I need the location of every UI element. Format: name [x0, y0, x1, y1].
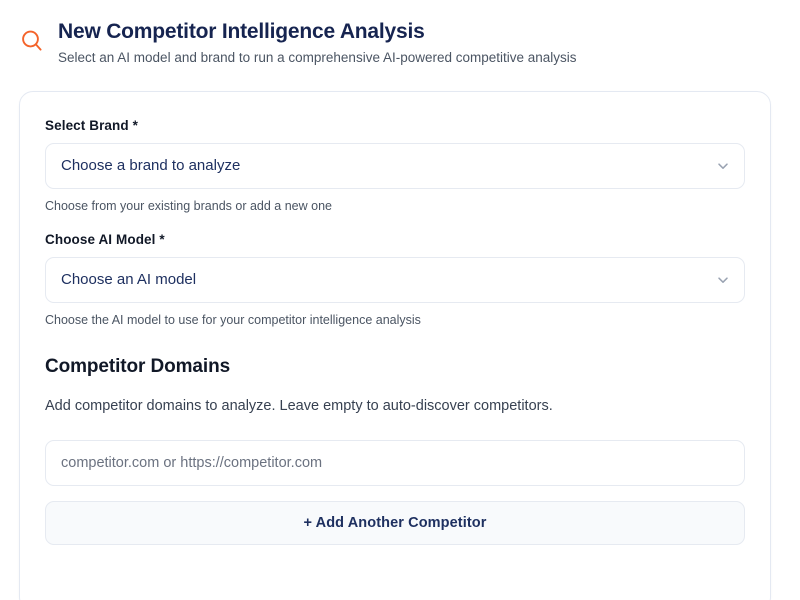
analysis-form-card: Select Brand * Choose a brand to analyze…	[19, 91, 771, 600]
chevron-down-icon	[716, 159, 730, 173]
brand-field-label: Select Brand *	[45, 118, 745, 133]
ai-model-select[interactable]: Choose an AI model	[45, 257, 745, 303]
page-subtitle: Select an AI model and brand to run a co…	[58, 48, 577, 68]
competitor-domains-title: Competitor Domains	[45, 354, 745, 379]
brand-field-help: Choose from your existing brands or add …	[45, 197, 745, 215]
chevron-down-icon	[716, 273, 730, 287]
competitor-domain-input[interactable]	[45, 440, 745, 486]
page-title: New Competitor Intelligence Analysis	[58, 18, 577, 45]
header-text-group: New Competitor Intelligence Analysis Sel…	[58, 18, 577, 68]
model-field-block: Choose AI Model * Choose an AI model Cho…	[45, 232, 745, 329]
search-icon	[18, 27, 46, 55]
model-field-help: Choose the AI model to use for your comp…	[45, 311, 745, 329]
brand-select[interactable]: Choose a brand to analyze	[45, 143, 745, 189]
competitor-domains-description: Add competitor domains to analyze. Leave…	[45, 396, 745, 417]
competitor-intelligence-page: New Competitor Intelligence Analysis Sel…	[0, 0, 800, 600]
competitor-domains-section: Competitor Domains Add competitor domain…	[45, 354, 745, 545]
page-header: New Competitor Intelligence Analysis Sel…	[0, 0, 800, 68]
ai-model-select-value: Choose an AI model	[61, 270, 196, 290]
brand-field-block: Select Brand * Choose a brand to analyze…	[45, 118, 745, 215]
add-another-competitor-button[interactable]: + Add Another Competitor	[45, 501, 745, 545]
brand-select-value: Choose a brand to analyze	[61, 156, 240, 176]
model-field-label: Choose AI Model *	[45, 232, 745, 247]
